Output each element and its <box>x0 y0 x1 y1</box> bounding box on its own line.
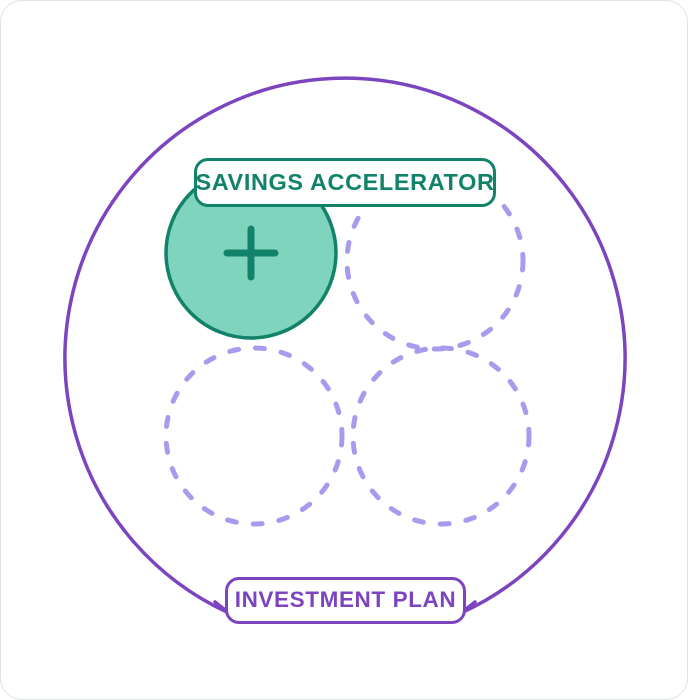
savings-accelerator-label-chip[interactable]: SAVINGS ACCELERATOR <box>194 158 496 207</box>
investment-plan-label-chip[interactable]: INVESTMENT PLAN <box>225 577 466 624</box>
investment-plan-label-text: INVESTMENT PLAN <box>235 589 457 612</box>
diagram-page-frame: SAVINGS ACCELERATOR INVESTMENT PLAN <box>0 0 688 700</box>
empty-slot-bottom-right[interactable] <box>353 348 529 524</box>
savings-accelerator-label-text: SAVINGS ACCELERATOR <box>195 171 494 195</box>
empty-slot-bottom-left[interactable] <box>166 348 342 524</box>
